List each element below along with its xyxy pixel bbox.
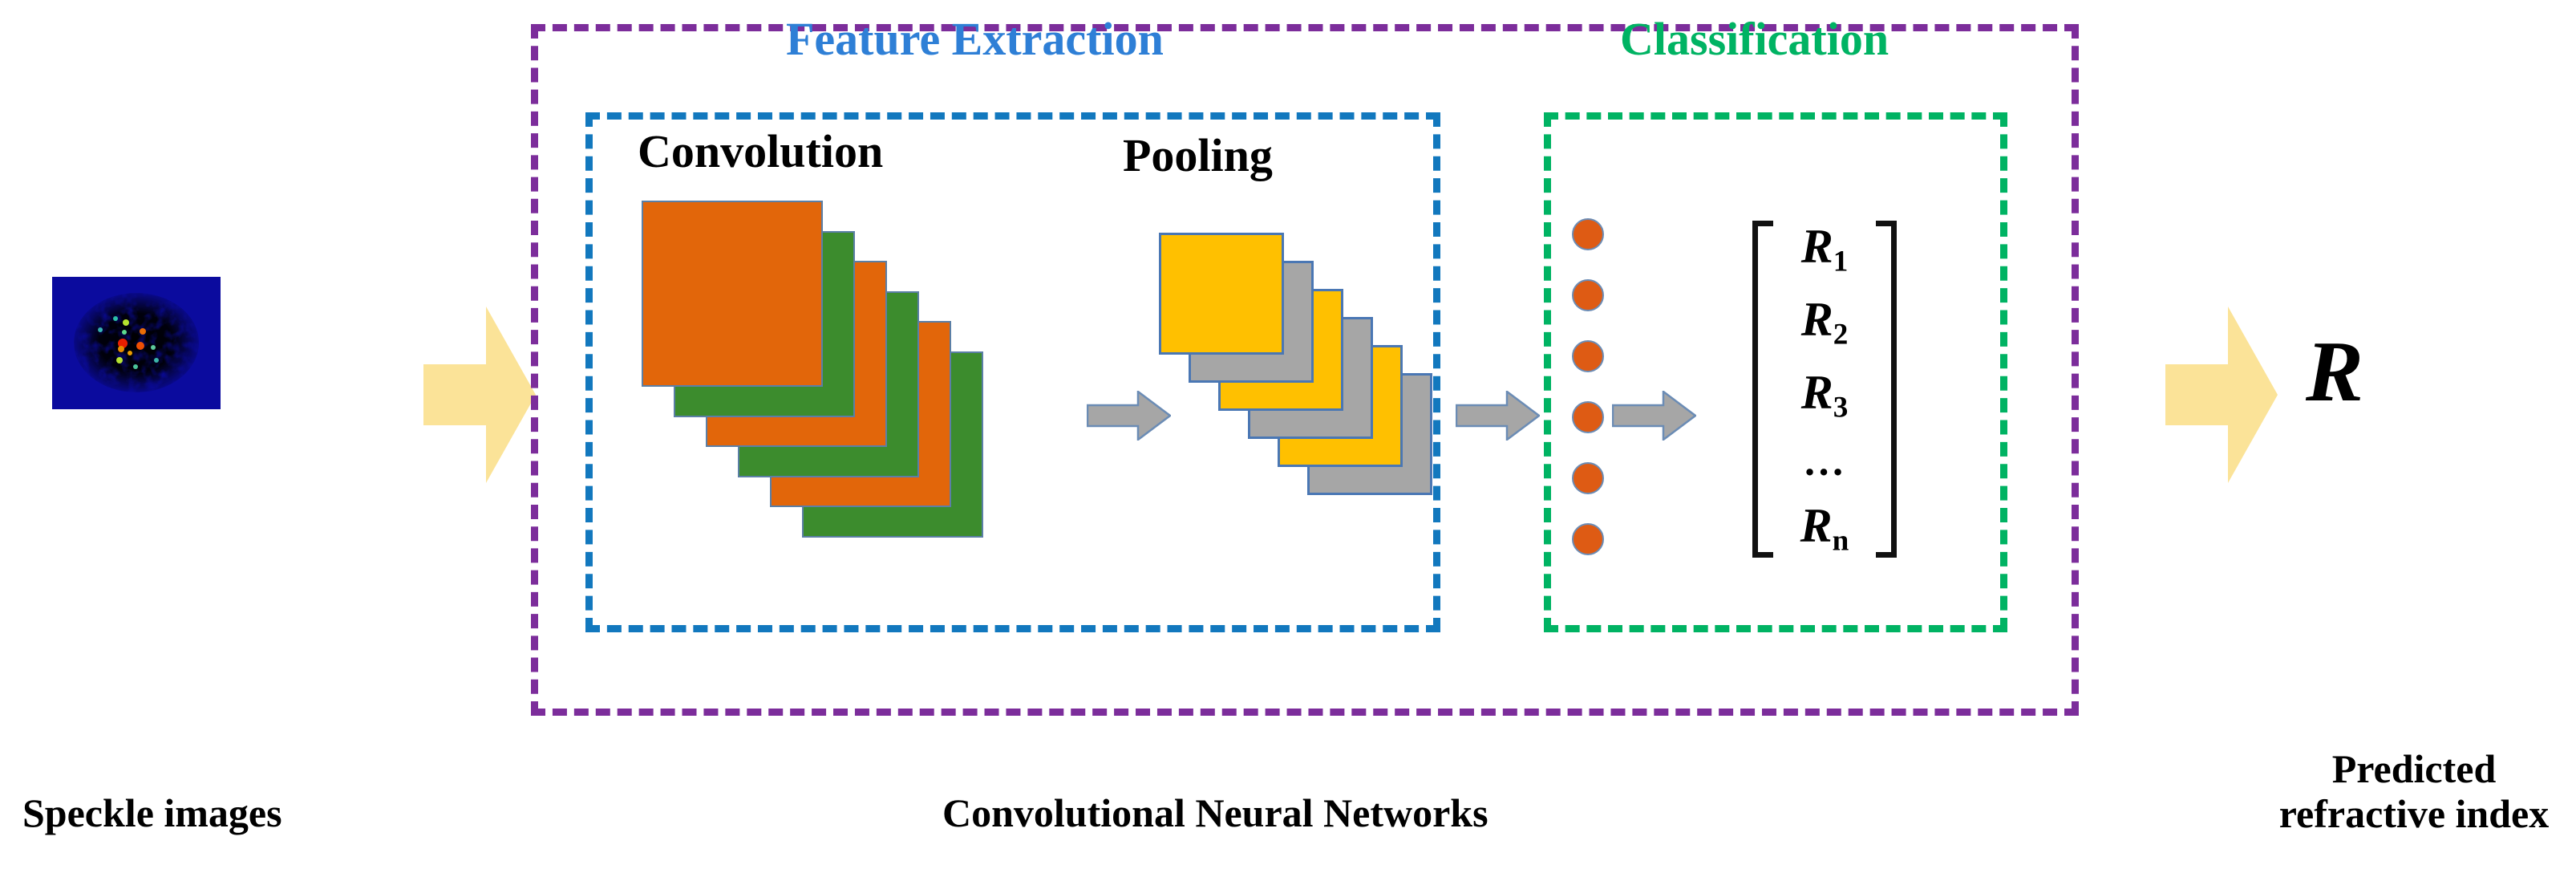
vector-row-base: R: [1801, 293, 1833, 346]
neuron-column: [1572, 218, 1612, 555]
pooling-label: Pooling: [1123, 132, 1273, 179]
vector-row: Rn: [1800, 502, 1849, 556]
neuron: [1572, 279, 1604, 311]
vector-row: R1: [1801, 222, 1849, 277]
vector-row-sub: 2: [1833, 318, 1849, 351]
neuron: [1572, 523, 1604, 555]
neuron: [1572, 462, 1604, 494]
speckle-images-caption: Speckle images: [22, 790, 282, 835]
fc-to-vector-arrow-icon: [1612, 391, 1696, 441]
neuron: [1572, 218, 1604, 250]
convolution-layer: [642, 201, 823, 387]
vector-ellipsis: …: [1803, 441, 1846, 483]
speckle-pattern-svg: [52, 277, 221, 409]
matrix-left-bracket: [1752, 221, 1773, 558]
vector-row: R3: [1801, 368, 1849, 423]
vector-row-sub: 3: [1833, 391, 1849, 424]
output-symbol: R: [2306, 329, 2363, 416]
cnn-caption: Convolutional Neural Networks: [942, 790, 1488, 835]
convolution-label: Convolution: [638, 128, 883, 175]
convolution-layer-stack: [642, 201, 986, 538]
predicted-refractive-index-caption-line2: refractive index: [2270, 791, 2558, 836]
predicted-refractive-index-caption: Predicted refractive index: [2270, 746, 2558, 836]
pooling-layer-stack: [1159, 233, 1480, 506]
input-arrow-icon: [423, 307, 536, 483]
vector-row: R2: [1801, 295, 1849, 350]
predicted-refractive-index-caption-line1: Predicted: [2270, 746, 2558, 791]
vector-row-sub: 1: [1833, 245, 1849, 278]
pooling-layer: [1159, 233, 1284, 355]
vector-row-sub: n: [1833, 525, 1849, 558]
feature-extraction-title: Feature Extraction: [786, 16, 1164, 63]
output-arrow-icon: [2165, 307, 2278, 483]
vector-row-base: R: [1801, 220, 1833, 273]
vector-row-base: R: [1800, 499, 1833, 552]
neuron: [1572, 340, 1604, 372]
speckle-pattern-image: [52, 277, 221, 409]
neuron: [1572, 401, 1604, 433]
vector-row-base: R: [1801, 366, 1833, 419]
refractive-index-vector: R1 R2 R3 … Rn: [1752, 221, 1897, 558]
matrix-right-bracket: [1876, 221, 1897, 558]
classification-title: Classification: [1620, 16, 1889, 63]
pool-to-fc-arrow-icon: [1456, 391, 1540, 441]
